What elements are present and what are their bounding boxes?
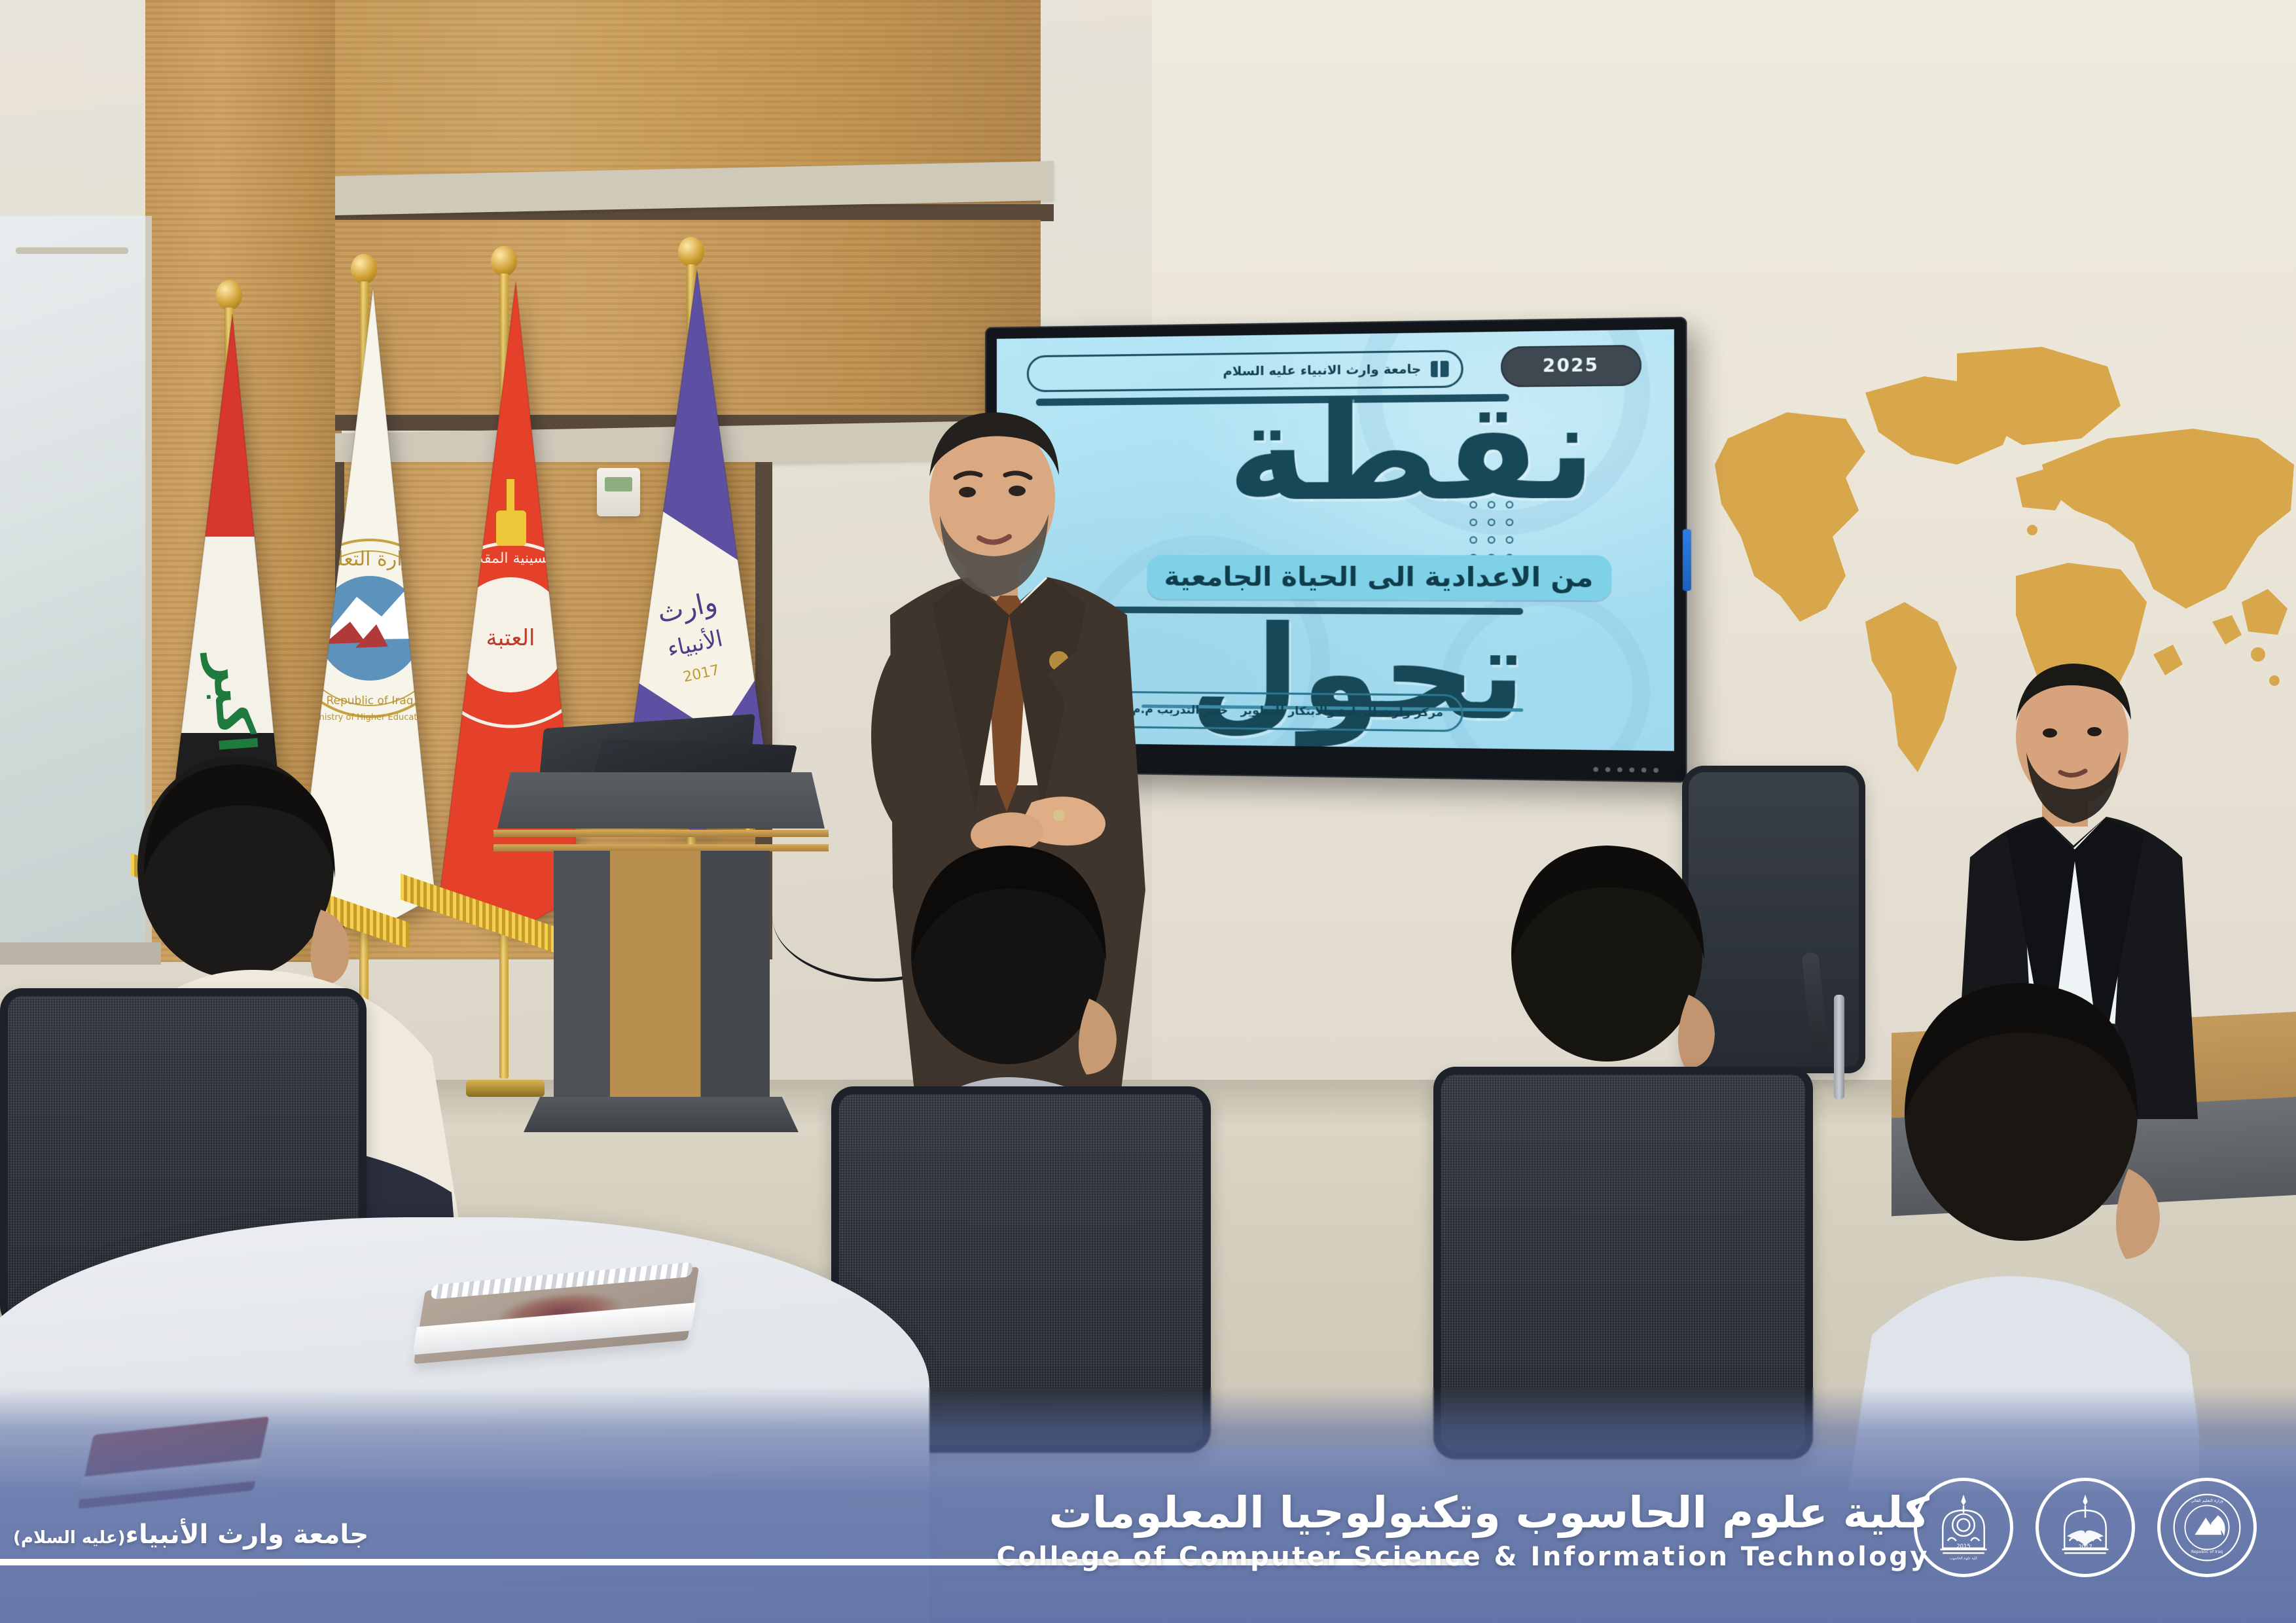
footer-content: جامعة وارث الأنبياء(عليه السلام) كلية عل… [0, 1427, 2296, 1623]
svg-text:Republic of Iraq: Republic of Iraq [2191, 1550, 2223, 1554]
flag-finial-iraq [216, 280, 242, 310]
ministry-seal-logo[interactable]: Republic of Iraq وزارة التعليم العالي [2157, 1478, 2257, 1577]
flag-finial-university [678, 237, 704, 267]
podium-top [497, 772, 825, 829]
footer-university-name-main: جامعة وارث الأنبياء [126, 1520, 369, 1550]
display-side-led [1683, 529, 1691, 591]
footer-logo-row: 2015 كلية علوم الحاسوب [1914, 1478, 2257, 1577]
footer-college-block: كلية علوم الحاسوب وتكنولوجيا المعلومات C… [997, 1488, 1929, 1572]
footer-overlay: جامعة وارث الأنبياء(عليه السلام) كلية عل… [0, 1387, 2296, 1623]
screenshot-stage: الله اكبر [0, 0, 2296, 1623]
svg-text:العتبة: العتبة [486, 625, 535, 651]
flag-finial-shrine [491, 246, 517, 276]
svg-text:2015: 2015 [1956, 1543, 1970, 1550]
podium-body [554, 851, 770, 1106]
flag-finial-ministry [351, 254, 377, 284]
podium-base [524, 1097, 798, 1132]
footer-college-name-ar: كلية علوم الحاسوب وتكنولوجيا المعلومات [997, 1488, 1929, 1538]
college-seal-logo[interactable]: 2015 كلية علوم الحاسوب [1914, 1478, 2013, 1577]
footer-university-name-honorific: (عليه السلام) [13, 1528, 126, 1548]
podium [497, 733, 825, 1139]
svg-text:وزارة التعليم العالي: وزارة التعليم العالي [2191, 1499, 2223, 1503]
svg-text:Republic of Iraq: Republic of Iraq [326, 694, 413, 707]
svg-text:كلية علوم الحاسوب: كلية علوم الحاسوب [1950, 1557, 1977, 1561]
svg-text:2017: 2017 [2078, 1544, 2092, 1550]
svg-text:الحسينية المقدسة: الحسينية المقدسة [457, 550, 564, 567]
slide-subtitle-pill: من الاعدادية الى الحياة الجامعية [1147, 555, 1611, 600]
display-indicator-dots [1593, 767, 1659, 773]
slide-dot-grid [1467, 501, 1513, 563]
footer-university-name: جامعة وارث الأنبياء(عليه السلام) [13, 1520, 368, 1550]
university-seal-logo[interactable]: 2017 [2036, 1478, 2135, 1577]
podium-gold-strip-1 [493, 830, 829, 837]
slide-title-line-1: نقطة [1228, 390, 1596, 514]
footer-college-name-en: College of Computer Science & Informatio… [997, 1542, 1929, 1572]
slide-footer-center-text: مركز وارث للريادة والابتكار للتطوير [1241, 704, 1443, 720]
